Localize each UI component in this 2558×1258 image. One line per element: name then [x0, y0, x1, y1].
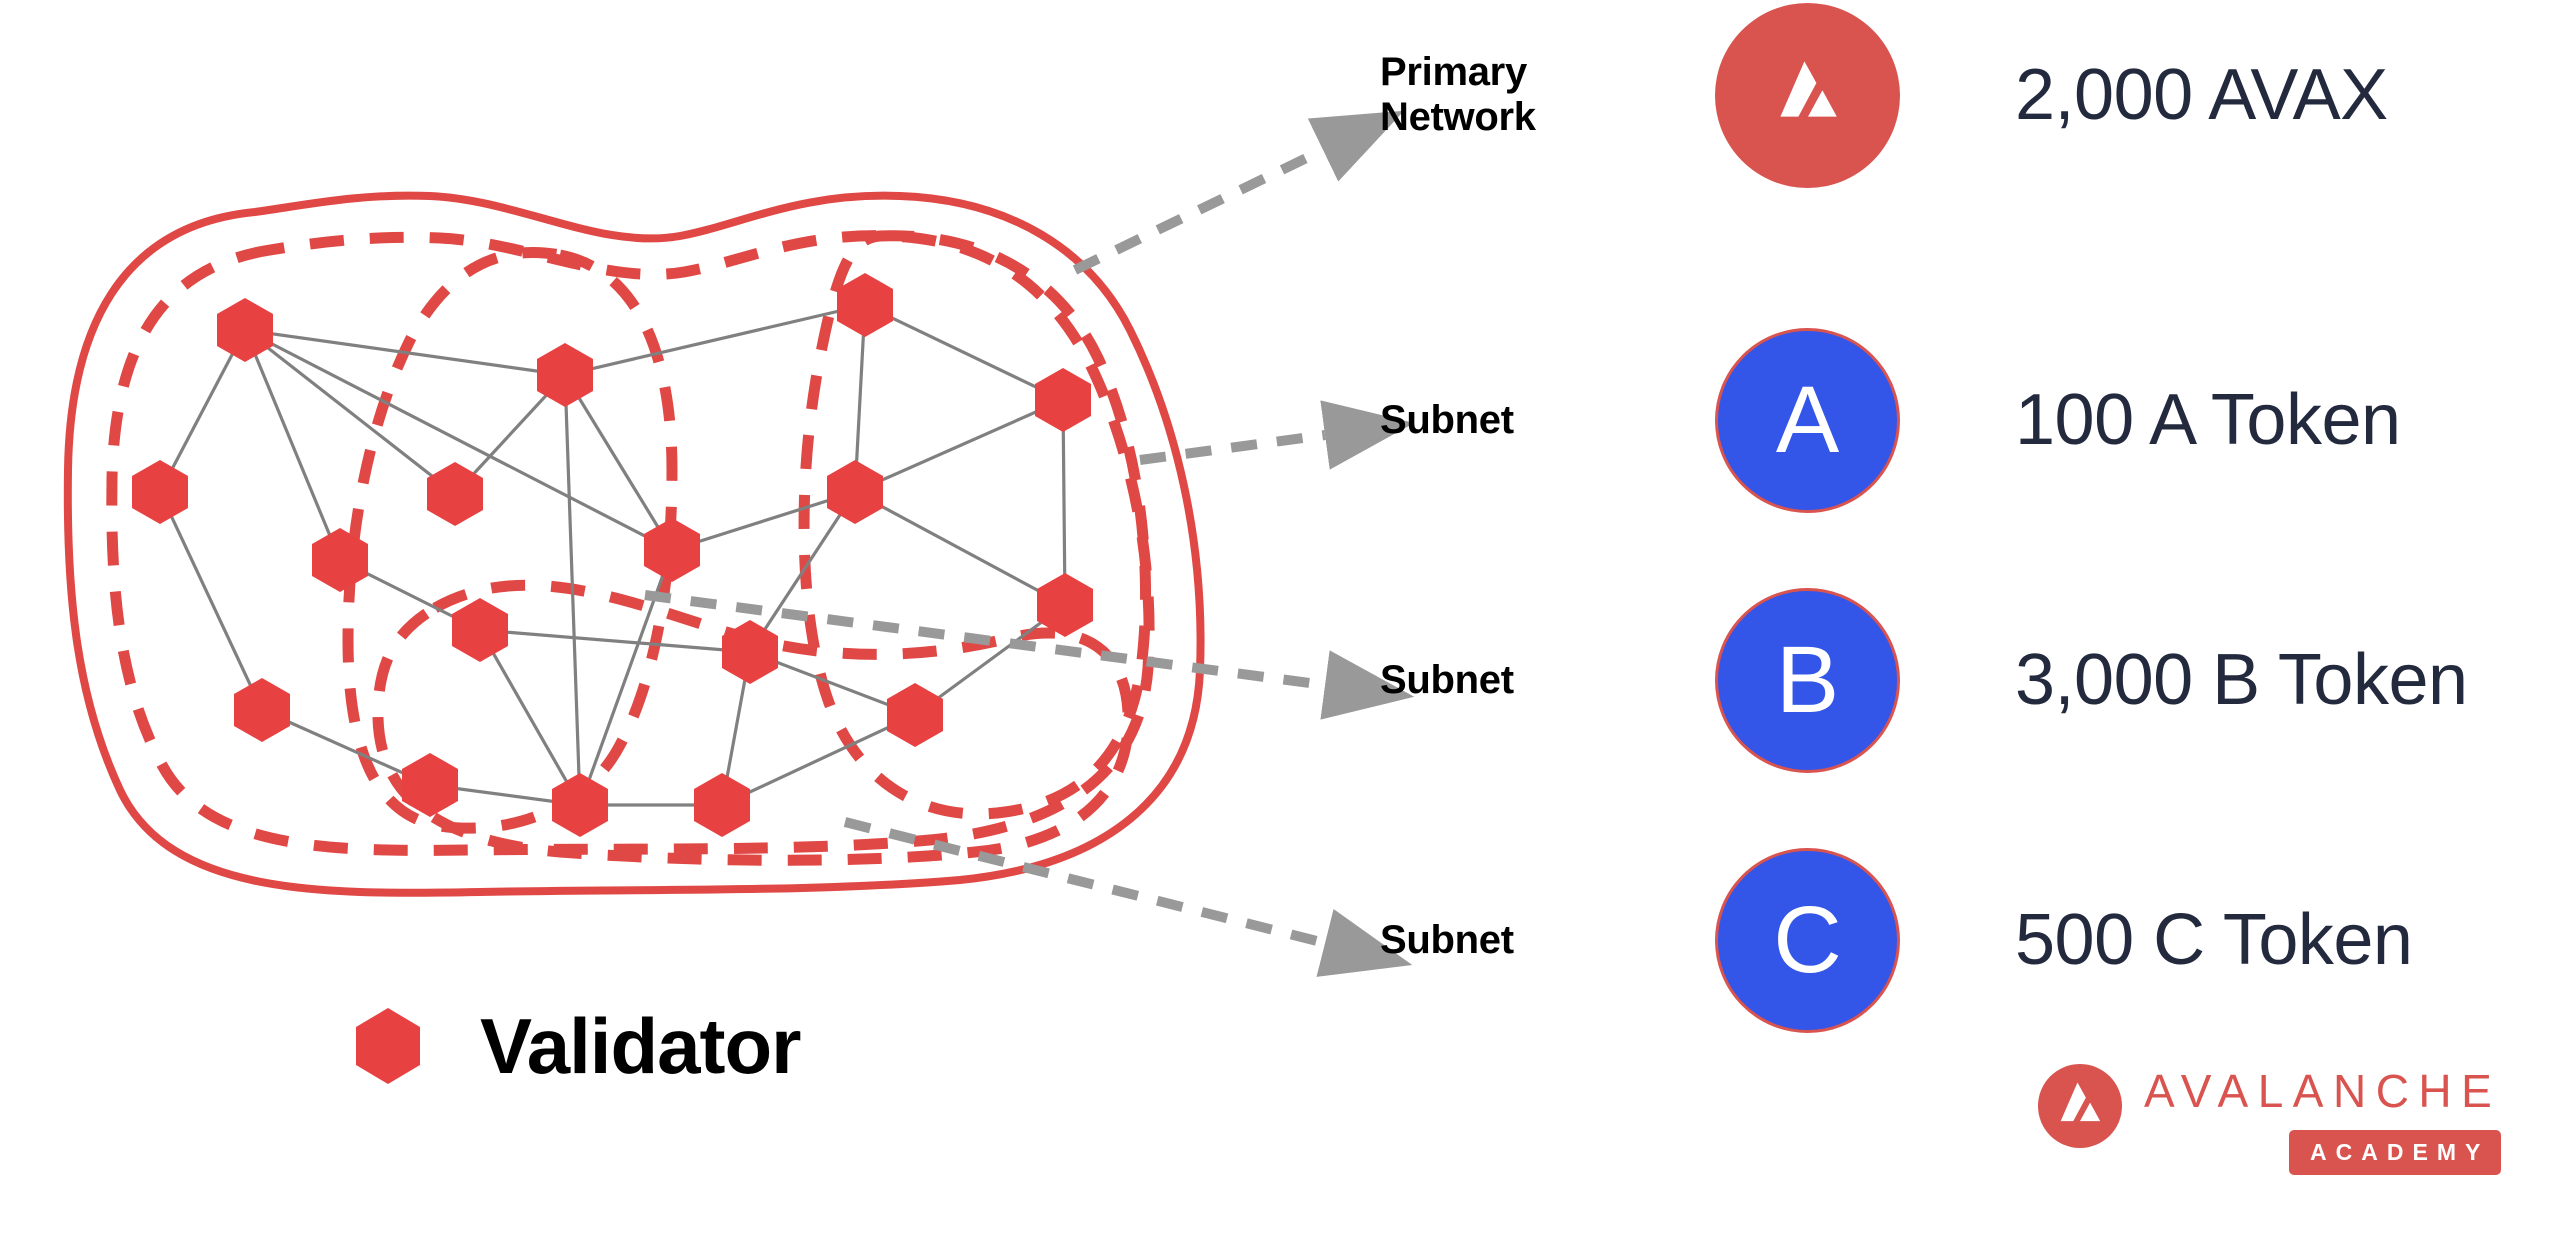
badge-slot-subnet-b: B — [1710, 588, 1905, 773]
row-label-subnet-b: Subnet — [1380, 658, 1710, 703]
avalanche-academy-wordmark: AVALANCHE ACADEMY — [2144, 1060, 2501, 1175]
row-subnet-b[interactable]: Subnet B 3,000 B Token — [1380, 585, 2558, 775]
badge-letter-c: C — [1773, 893, 1842, 988]
row-amount-subnet-a: 100 A Token — [2015, 379, 2401, 461]
row-amount-primary-network: 2,000 AVAX — [2015, 54, 2388, 136]
badge-slot-primary-network — [1710, 3, 1905, 188]
avalanche-logo-icon — [2038, 1064, 2122, 1153]
subnet-a-boundary — [348, 252, 672, 828]
validator-node — [552, 773, 608, 837]
row-label-subnet-a: Subnet — [1380, 398, 1710, 443]
row-amount-subnet-c: 500 C Token — [2015, 899, 2412, 981]
row-amount-subnet-b: 3,000 B Token — [2015, 639, 2468, 721]
academy-badge-text: ACADEMY — [2289, 1130, 2501, 1175]
row-primary-network[interactable]: Primary Network 2,000 AVAX — [1380, 0, 2558, 190]
arrow-subnet-a — [1140, 435, 1325, 460]
arrow-primary-network — [1075, 150, 1323, 270]
badge-slot-subnet-c: C — [1710, 848, 1905, 1033]
validator-node — [837, 273, 893, 337]
subnet-a-badge-icon: A — [1715, 328, 1900, 513]
validator-node — [644, 518, 700, 582]
badge-letter-a: A — [1776, 373, 1839, 468]
validator-node — [694, 773, 750, 837]
badge-slot-subnet-a: A — [1710, 328, 1905, 513]
avax-logo-icon — [1715, 3, 1900, 188]
validator-node — [887, 683, 943, 747]
hexagon-icon — [348, 1000, 428, 1092]
validator-node — [402, 753, 458, 817]
avax-mark-icon — [1748, 35, 1868, 155]
validator-legend: Validator — [348, 1000, 800, 1092]
validator-legend-label: Validator — [480, 1001, 800, 1092]
validator-node — [827, 460, 883, 524]
legend-rows: Primary Network 2,000 AVAX Subnet A — [1380, 0, 2558, 1000]
row-label-primary-network: Primary Network — [1380, 50, 1710, 140]
avalanche-wordmark-text: AVALANCHE — [2144, 1060, 2501, 1114]
validator-node — [452, 598, 508, 662]
row-label-subnet-c: Subnet — [1380, 918, 1710, 963]
row-label-line2: Network — [1380, 95, 1710, 140]
avalanche-circle-mark-icon — [2038, 1064, 2122, 1148]
subnet-c-badge-icon: C — [1715, 848, 1900, 1033]
row-subnet-c[interactable]: Subnet C 500 C Token — [1380, 845, 2558, 1035]
row-label-line1: Primary — [1380, 50, 1710, 95]
callout-arrows — [645, 150, 1325, 943]
validator-node — [1037, 573, 1093, 637]
validator-node — [217, 298, 273, 362]
diagram-root: Primary Network 2,000 AVAX Subnet A — [0, 0, 2558, 1258]
row-subnet-a[interactable]: Subnet A 100 A Token — [1380, 325, 2558, 515]
validator-node — [234, 678, 290, 742]
badge-letter-b: B — [1776, 633, 1839, 728]
subnet-b-badge-icon: B — [1715, 588, 1900, 773]
validator-node — [132, 460, 188, 524]
avalanche-academy-logo[interactable]: AVALANCHE ACADEMY — [2038, 1060, 2501, 1175]
validator-node — [1035, 368, 1091, 432]
